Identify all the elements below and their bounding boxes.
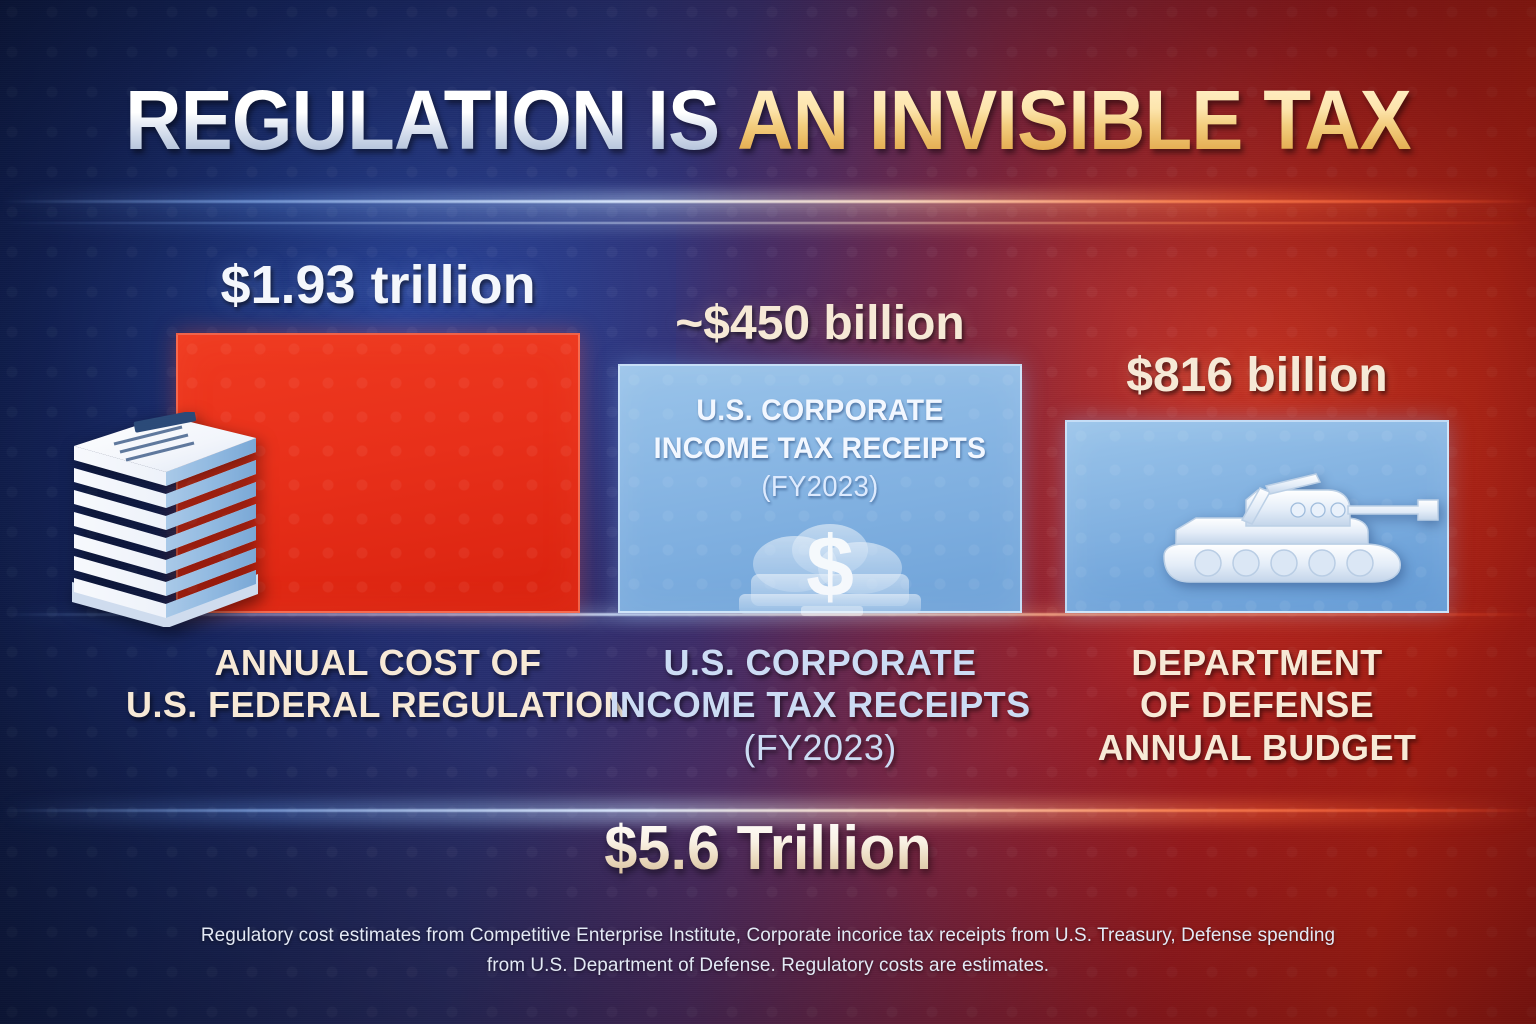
bar-label-regulation-line-1: ANNUAL COST OF [56,642,700,684]
bar-corporate-caption-fiscal-year: (FY2023) [630,469,1010,506]
bar-corporate-caption-line-1: U.S. CORPORATE [630,392,1010,430]
svg-text:$: $ [806,519,854,615]
bar-label-corporate: U.S. CORPORATE INCOME TAX RECEIPTS (FY20… [608,642,1032,769]
bar-label-regulation: ANNUAL COST OF U.S. FEDERAL REGULATION [56,642,700,727]
bar-label-defense-line-2: OF DEFENSE [1060,684,1454,726]
dollar-money-icon: $ [735,512,925,620]
bar-label-defense-line-3: ANNUAL BUDGET [1060,727,1454,769]
value-label-defense: $816 billion [1020,352,1494,400]
bar-label-corporate-line-2: INCOME TAX RECEIPTS [608,684,1032,726]
total-amount-value: $5.6 Trillion [604,814,931,883]
bar-label-defense-line-1: DEPARTMENT [1060,642,1454,684]
source-footnote-line-2: from U.S. Department of Defense. Regulat… [79,950,1456,980]
bar-label-defense: DEPARTMENT OF DEFENSE ANNUAL BUDGET [1060,642,1454,769]
bar-corporate-caption: U.S. CORPORATE INCOME TAX RECEIPTS (FY20… [630,392,1010,506]
source-footnote: Regulatory cost estimates from Competiti… [58,920,1478,980]
bar-label-corporate-fiscal-year: (FY2023) [608,727,1032,769]
total-amount: $5.6 Trillion [31,818,1506,880]
value-label-corporate: ~$450 billion [568,300,1072,348]
bar-label-regulation-line-2: U.S. FEDERAL REGULATION [56,684,700,726]
infographic-stage: REGULATION IS AN INVISIBLE TAX $1.93 tri… [0,0,1536,1024]
bar-label-corporate-line-1: U.S. CORPORATE [608,642,1032,684]
paper-stack-icon [62,412,272,627]
source-footnote-line-1: Regulatory cost estimates from Competiti… [79,920,1456,950]
bar-corporate-caption-line-2: INCOME TAX RECEIPTS [630,430,1010,468]
tank-icon [1150,470,1450,600]
